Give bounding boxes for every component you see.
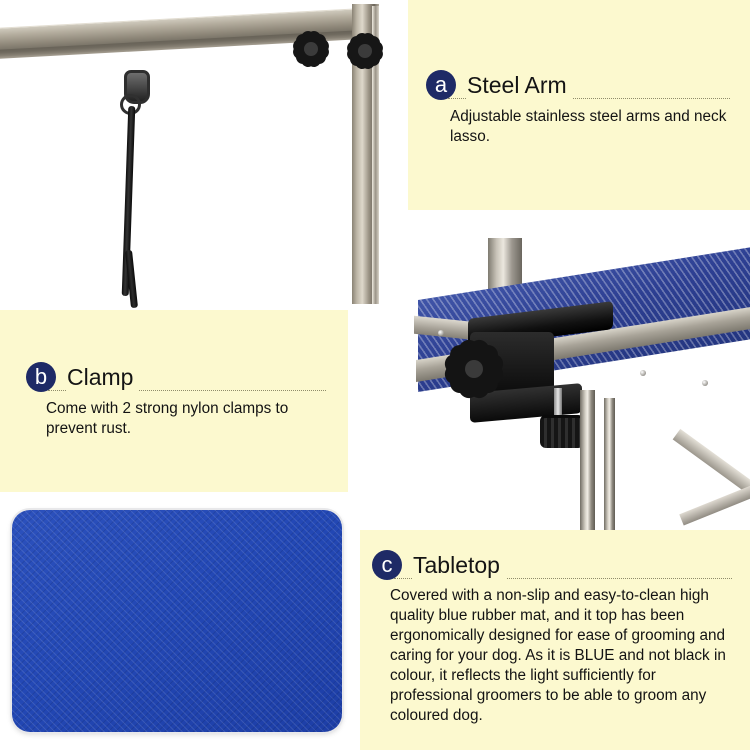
feature-c-heading: c Tabletop xyxy=(372,550,740,580)
feature-b-title: Clamp xyxy=(67,364,139,391)
blue-mat-photo xyxy=(0,492,360,750)
star-knob-core xyxy=(358,44,372,58)
feature-c-description: Covered with a non-slip and easy-to-clea… xyxy=(390,586,740,726)
product-feature-infographic: a Steel Arm Adjustable stainless steel a… xyxy=(0,0,750,750)
feature-badge-c: c xyxy=(372,550,402,580)
star-knob-icon xyxy=(350,36,380,66)
steel-arm-photo xyxy=(0,0,408,338)
blue-rubber-mat xyxy=(12,510,342,732)
screw-icon xyxy=(640,370,646,376)
table-leg xyxy=(580,390,595,540)
feature-panel-steel-arm: a Steel Arm Adjustable stainless steel a… xyxy=(408,0,750,210)
feature-c-title: Tabletop xyxy=(413,552,506,579)
clamp-tighten-wheel xyxy=(540,415,584,448)
clamp-photo xyxy=(408,210,750,540)
clamp-star-knob-icon xyxy=(450,345,498,393)
star-knob-core xyxy=(304,42,318,56)
feature-a-heading: a Steel Arm xyxy=(426,70,738,100)
feature-b-description: Come with 2 strong nylon clamps to preve… xyxy=(46,399,334,439)
feature-panel-clamp: b Clamp Come with 2 strong nylon clamps … xyxy=(0,310,348,492)
table-leg xyxy=(604,398,615,540)
feature-badge-a: a xyxy=(426,70,456,100)
feature-a: a Steel Arm Adjustable stainless steel a… xyxy=(426,70,738,147)
clamp-knob-core xyxy=(465,360,483,378)
screw-icon xyxy=(702,380,708,386)
feature-a-description: Adjustable stainless steel arms and neck… xyxy=(450,107,738,147)
feature-badge-b: b xyxy=(26,362,56,392)
feature-a-title: Steel Arm xyxy=(467,72,573,99)
star-knob-icon xyxy=(296,34,326,64)
screw-icon xyxy=(438,330,444,336)
feature-b-heading: b Clamp xyxy=(26,362,334,392)
feature-b: b Clamp Come with 2 strong nylon clamps … xyxy=(26,362,334,439)
feature-c: c Tabletop Covered with a non-slip and e… xyxy=(372,550,740,726)
feature-panel-tabletop: c Tabletop Covered with a non-slip and e… xyxy=(360,530,750,750)
